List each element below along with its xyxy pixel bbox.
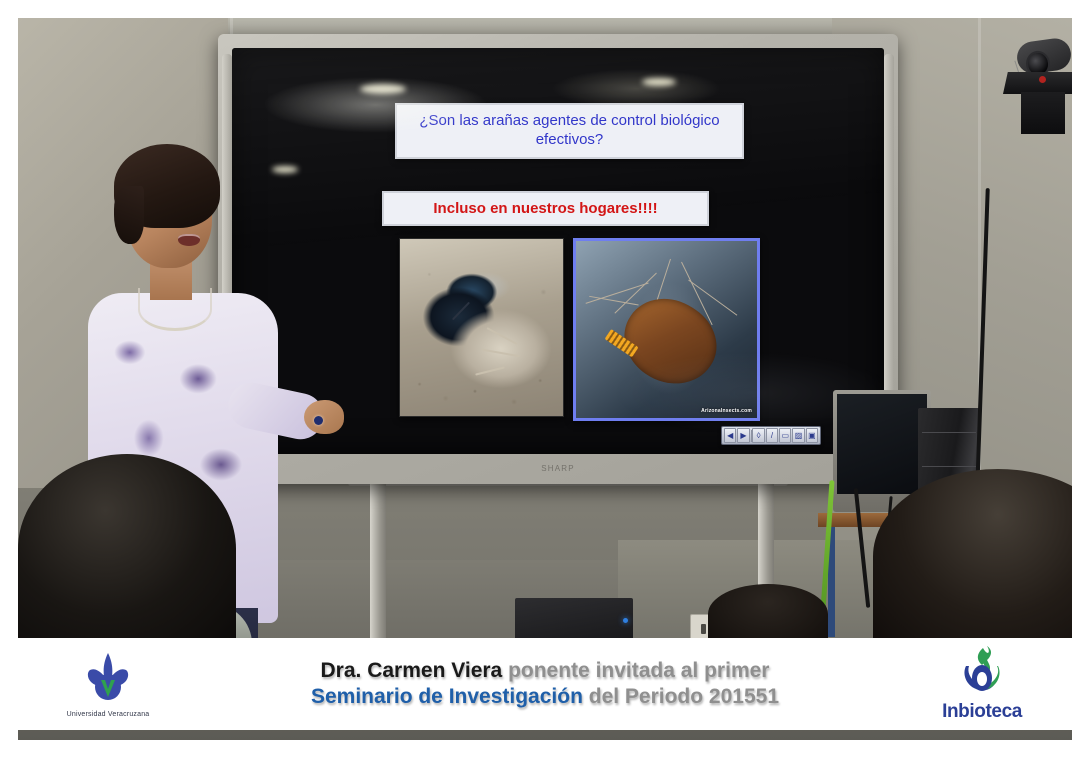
event-photograph: ¿Son las arañas agentes de control bioló… — [18, 18, 1072, 740]
eraser-icon[interactable]: ◊ — [752, 428, 764, 443]
caption-line-2-rest: del Periodo 201551 — [583, 685, 779, 708]
previous-slide-button[interactable]: ◀ — [724, 428, 736, 443]
pen-icon[interactable]: / — [766, 428, 778, 443]
next-slide-button[interactable]: ▶ — [737, 428, 749, 443]
universidad-veracruzana-logo: Universidad Veracruzana — [18, 651, 198, 718]
slide-subtitle-box: Incluso en nuestros hogares!!!! — [382, 191, 709, 226]
camera-shelf — [1003, 72, 1072, 94]
camera-body — [1015, 36, 1072, 75]
uv-logo-caption: Universidad Veracruzana — [67, 711, 150, 718]
photo-watermark: ArizonaInsects.com — [701, 408, 752, 414]
toolbar-separator — [751, 430, 752, 442]
display-brand-text: SHARP — [541, 464, 575, 473]
slide-annotation-toolbar[interactable]: ◀ ▶ ◊ / ▭ ▨ ▣ — [721, 426, 821, 445]
slide-title-text: ¿Son las arañas agentes de control bioló… — [397, 112, 742, 150]
outlet-slot-left — [701, 624, 706, 634]
monitor-screen — [837, 394, 927, 494]
caption-bar: Universidad Veracruzana Dra. Carmen Vier… — [18, 638, 1072, 730]
inbioteca-emblem-icon — [952, 645, 1012, 701]
inbioteca-logo: Inbioteca — [892, 645, 1072, 723]
slide-photo-spider-fly — [399, 238, 564, 417]
presentation-slide: ¿Son las arañas agentes de control bioló… — [232, 48, 884, 454]
av-equipment-led — [623, 618, 628, 623]
polycom-conference-camera — [1003, 36, 1072, 136]
presenter-mouth — [178, 234, 200, 246]
tower-panel-line — [922, 466, 976, 467]
spider-fly-image — [400, 239, 563, 416]
caption-text-block: Dra. Carmen Viera ponente invitada al pr… — [198, 658, 892, 709]
display-screen[interactable]: ¿Son las arañas agentes de control bioló… — [232, 48, 884, 454]
spider-cockroach-image: ArizonaInsects.com — [576, 241, 757, 418]
screen-icon[interactable]: ▭ — [779, 428, 791, 443]
caption-line-1-rest: ponente invitada al primer — [502, 659, 769, 682]
caption-line-2: Seminario de Investigación del Periodo 2… — [198, 684, 892, 710]
presenter-ring — [314, 416, 323, 425]
caption-seminar-name: Seminario de Investigación — [311, 685, 583, 708]
board-rail-right — [884, 54, 894, 444]
caption-line-1: Dra. Carmen Viera ponente invitada al pr… — [198, 658, 892, 684]
uv-crest-icon — [77, 651, 139, 709]
polycom-logo-icon — [1039, 76, 1046, 83]
audience-head-middle — [708, 584, 828, 644]
slide-subtitle-text: Incluso en nuestros hogares!!!! — [433, 200, 657, 217]
slide-photo-spider-cockroach: ArizonaInsects.com — [573, 238, 760, 421]
caption-presenter-name: Dra. Carmen Viera — [321, 659, 503, 682]
presenter-hair-side — [114, 186, 144, 244]
presenter-necklace — [138, 288, 212, 331]
inbioteca-logo-text: Inbioteca — [942, 701, 1022, 723]
screenshot-root: ¿Son las arañas agentes de control bioló… — [0, 0, 1090, 760]
tower-drive-bay — [922, 432, 976, 433]
camera-wall-mount — [1021, 92, 1065, 134]
presenter-hand — [304, 400, 344, 434]
display-brand: SHARP — [218, 456, 898, 480]
slide-title-box: ¿Son las arañas agentes de control bioló… — [395, 103, 744, 159]
sand-texture — [400, 239, 563, 416]
capture-icon[interactable]: ▨ — [792, 428, 804, 443]
settings-icon[interactable]: ▣ — [806, 428, 818, 443]
audience-head-left — [18, 454, 236, 644]
